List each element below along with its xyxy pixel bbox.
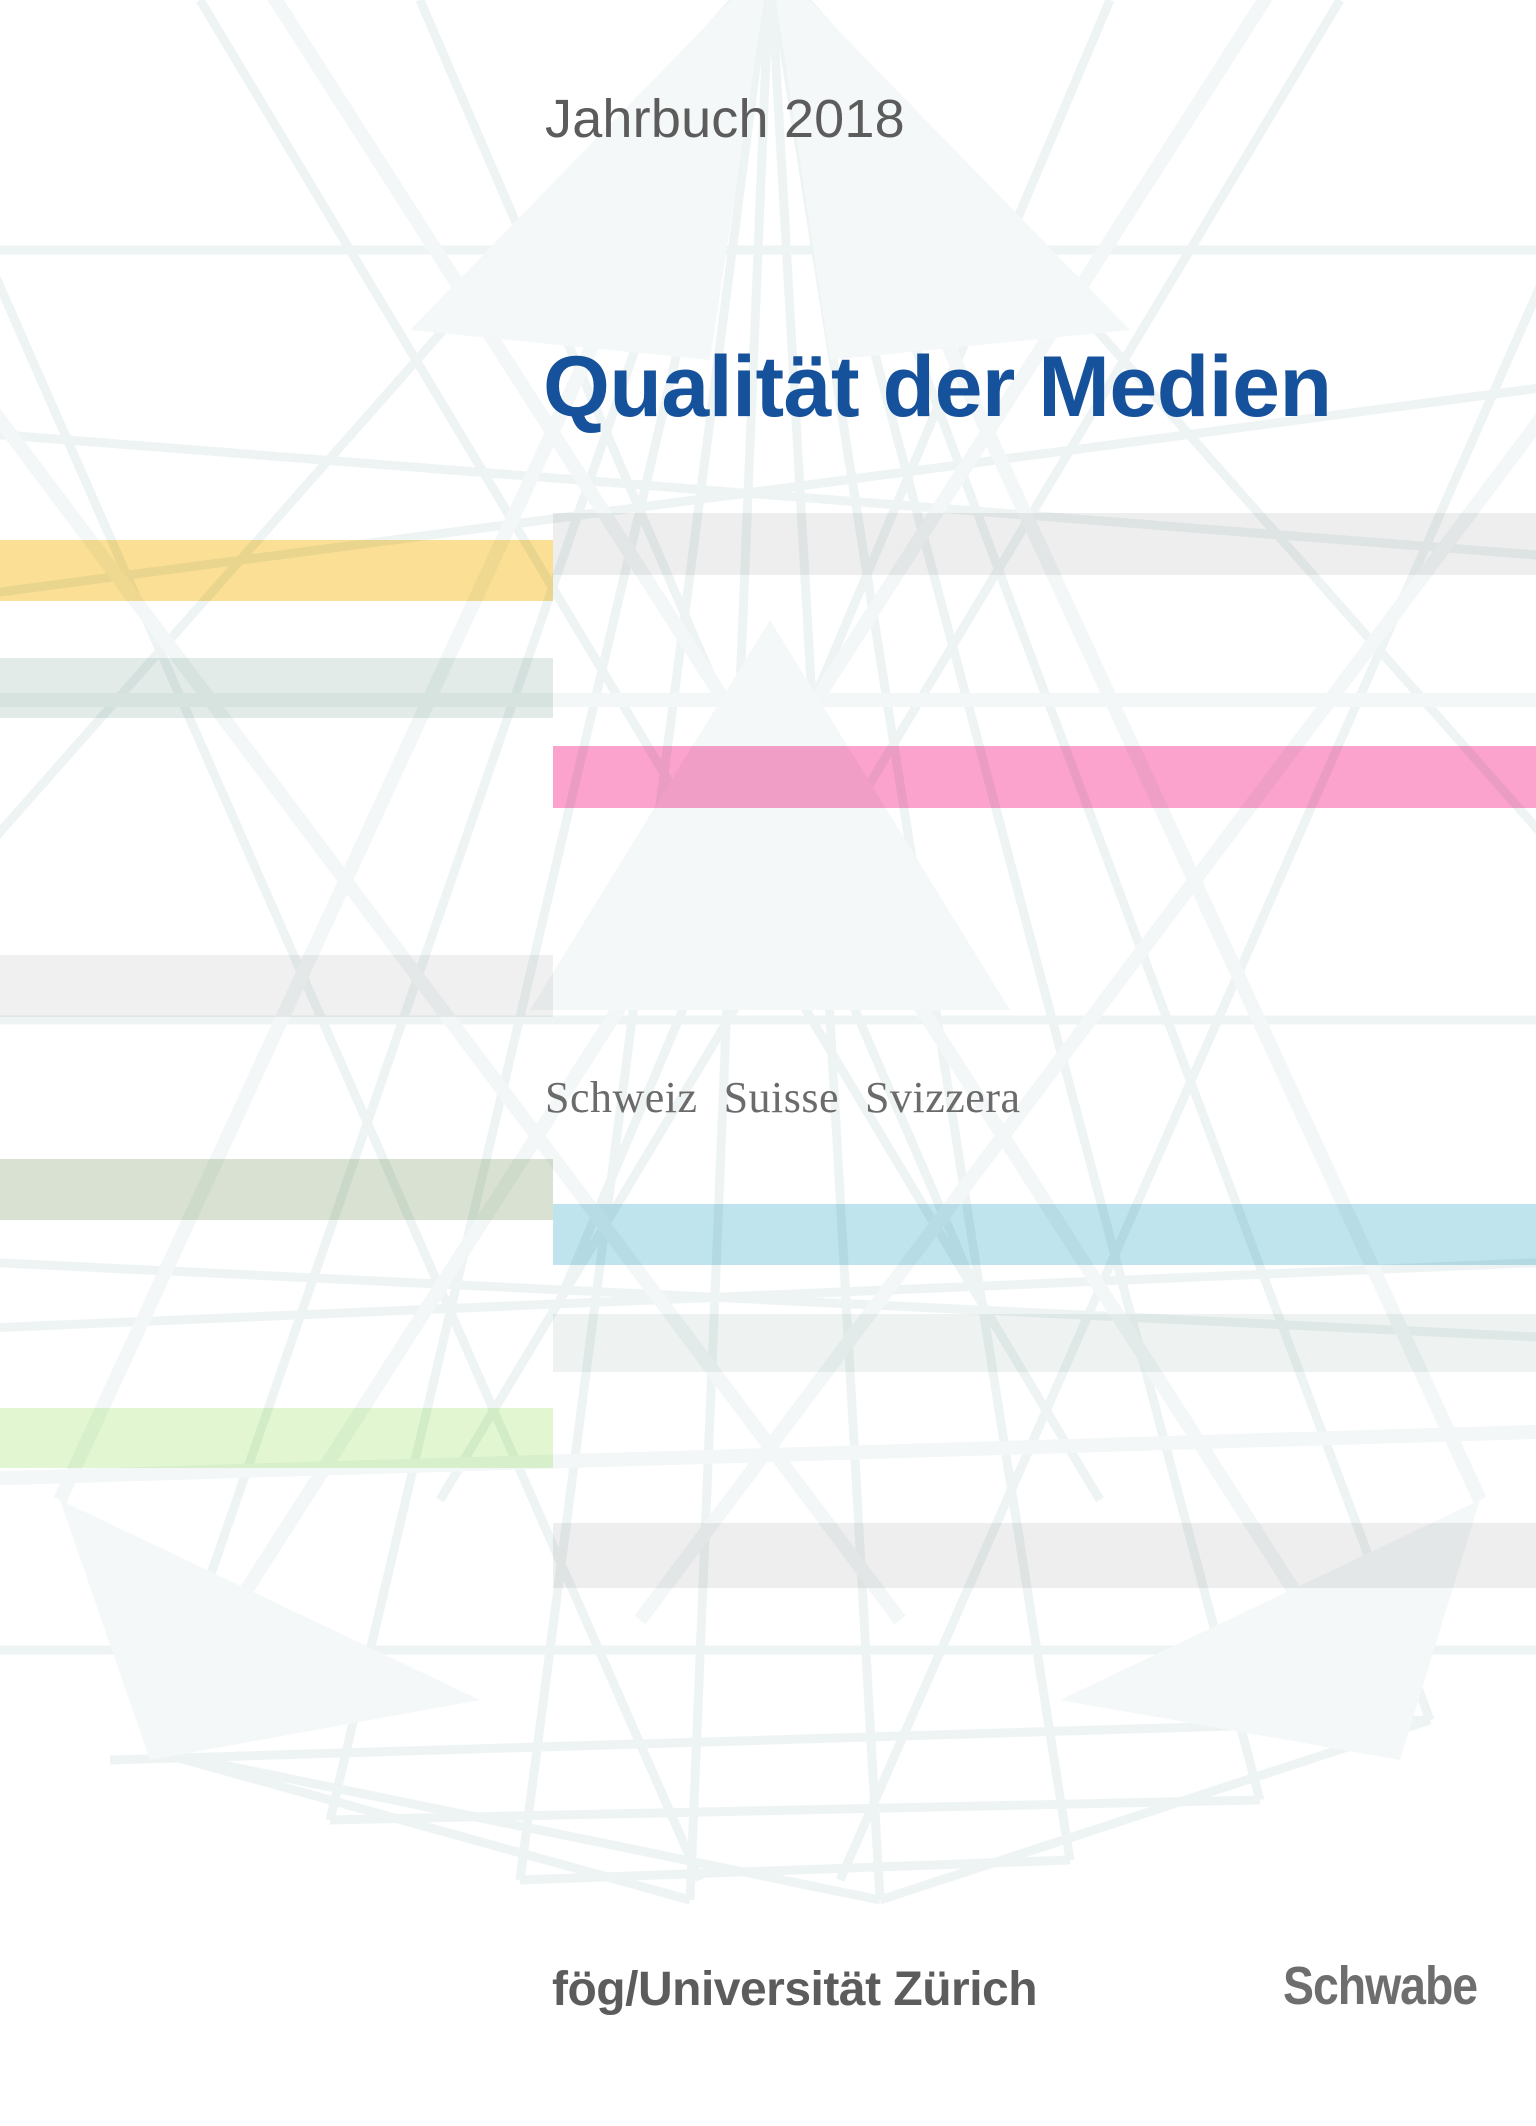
language-label-de: Schweiz [545,1073,698,1122]
cover-main-title: Qualität der Medien [543,338,1332,437]
language-label-it: Svizzera [865,1073,1020,1122]
bar-pink-right [553,746,1536,808]
bar-yellow-left [0,540,553,601]
bar-sage-left [0,1159,553,1220]
bar-palemint-right [553,1314,1536,1372]
bar-mint-left [0,658,553,718]
bar-lightgreen-left [0,1408,553,1468]
bar-gray-lower-right [553,1523,1536,1588]
bar-gray-upper-right [553,513,1536,575]
bar-lightgray-left [0,955,553,1017]
cover-publisher-logo: Schwabe [1283,1955,1477,2017]
language-label-fr: Suisse [724,1073,839,1122]
cover-language-line: SchweizSuisseSvizzera [545,1072,1021,1123]
cover-imprint-institution: fög/Universität Zürich [552,1962,1037,2017]
book-cover: Jahrbuch 2018 Qualität der Medien Schwei… [0,0,1536,2126]
bar-blue-right [553,1204,1536,1265]
network-background-graphic [0,0,1536,2126]
cover-kicker-year: Jahrbuch 2018 [545,88,905,150]
